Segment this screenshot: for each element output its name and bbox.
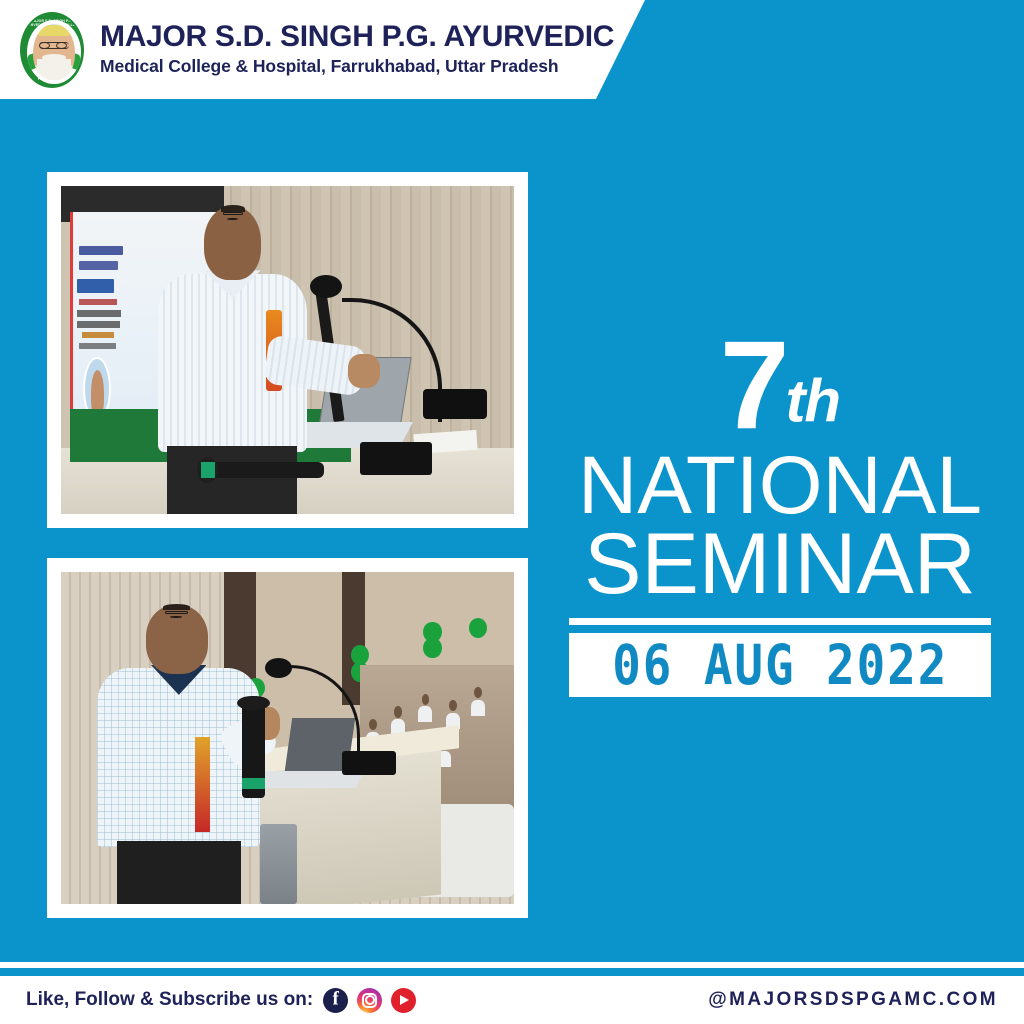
hair-icon (163, 604, 190, 610)
poster-canvas: MAJOR S.D. SINGH P.G. AYURVEDIC MEDICAL … (0, 0, 1024, 1024)
handheld-mic (206, 462, 324, 478)
mustache-icon (170, 616, 182, 618)
institution-subtitle: Medical College & Hospital, Farrukhabad,… (100, 56, 614, 78)
balloon-icon (469, 618, 487, 638)
beard-icon (37, 59, 71, 80)
headline-line-2: SEMINAR (560, 524, 1000, 605)
handheld-mic-band (242, 778, 265, 790)
mic-base (423, 389, 486, 419)
edition-ordinal: 7th (560, 330, 1000, 443)
footer-social-group: Like, Follow & Subscribe us on: (0, 988, 416, 1013)
headline-line-1: NATIONAL (560, 447, 1000, 524)
crest-inner-disc (27, 20, 81, 84)
play-triangle (400, 995, 409, 1005)
speaker-head (204, 206, 261, 280)
instagram-lens (365, 995, 375, 1005)
ribbon-badge (195, 737, 210, 833)
website-handle[interactable]: @MAJORSDSPGAMC.COM (708, 989, 1024, 1011)
edition-suffix: th (785, 368, 840, 435)
instagram-icon[interactable] (357, 988, 382, 1013)
institution-crest-icon: MAJOR S.D. SINGH P.G. AYURVEDIC MEDICAL … (16, 10, 88, 90)
date-badge: 06 AUG 2022 (569, 633, 991, 697)
header-title-group: MAJOR S.D. SINGH P.G. AYURVEDIC Medical … (100, 21, 614, 78)
mic-base-secondary (360, 442, 432, 475)
speaker-trousers (167, 446, 297, 514)
youtube-icon[interactable] (391, 988, 416, 1013)
edition-number: 7 (720, 316, 786, 455)
headline-divider (569, 618, 991, 625)
photo-bottom (61, 572, 514, 904)
footer-cta-label: Like, Follow & Subscribe us on: (26, 989, 313, 1011)
photo-frame-top (47, 172, 528, 528)
handheld-mic-band (201, 462, 215, 478)
photo-top (61, 186, 514, 514)
event-date: 06 AUG 2022 (612, 633, 948, 697)
social-icons (323, 988, 416, 1013)
facebook-icon[interactable] (323, 988, 348, 1013)
mic-head-icon (310, 275, 342, 298)
speaker-figure-bottom (97, 605, 260, 904)
mustache-icon (227, 218, 238, 221)
glasses-icon (39, 42, 69, 49)
water-bottle (260, 824, 296, 904)
footer-bar: Like, Follow & Subscribe us on: @MAJORSD… (0, 976, 1024, 1024)
speaker-head (146, 605, 208, 674)
glasses-icon (165, 611, 187, 614)
mic-base (342, 751, 396, 774)
headline-block: 7th NATIONAL SEMINAR 06 AUG 2022 (560, 330, 1000, 697)
header-inner: MAJOR S.D. SINGH P.G. AYURVEDIC MEDICAL … (0, 0, 645, 99)
founder-portrait-icon (33, 24, 75, 80)
glasses-icon (223, 212, 242, 215)
crest-oval: MAJOR S.D. SINGH P.G. AYURVEDIC MEDICAL … (20, 12, 84, 88)
balloon-icon (423, 638, 441, 658)
photo-frame-bottom (47, 558, 528, 918)
institution-title: MAJOR S.D. SINGH P.G. AYURVEDIC (100, 21, 614, 53)
speaker-hand (348, 354, 380, 388)
header-bar: MAJOR S.D. SINGH P.G. AYURVEDIC MEDICAL … (0, 0, 645, 99)
cap-icon (38, 25, 70, 36)
hair-icon (221, 205, 245, 212)
footer-accent-stripe (0, 968, 1024, 976)
speaker-trousers (117, 841, 241, 904)
